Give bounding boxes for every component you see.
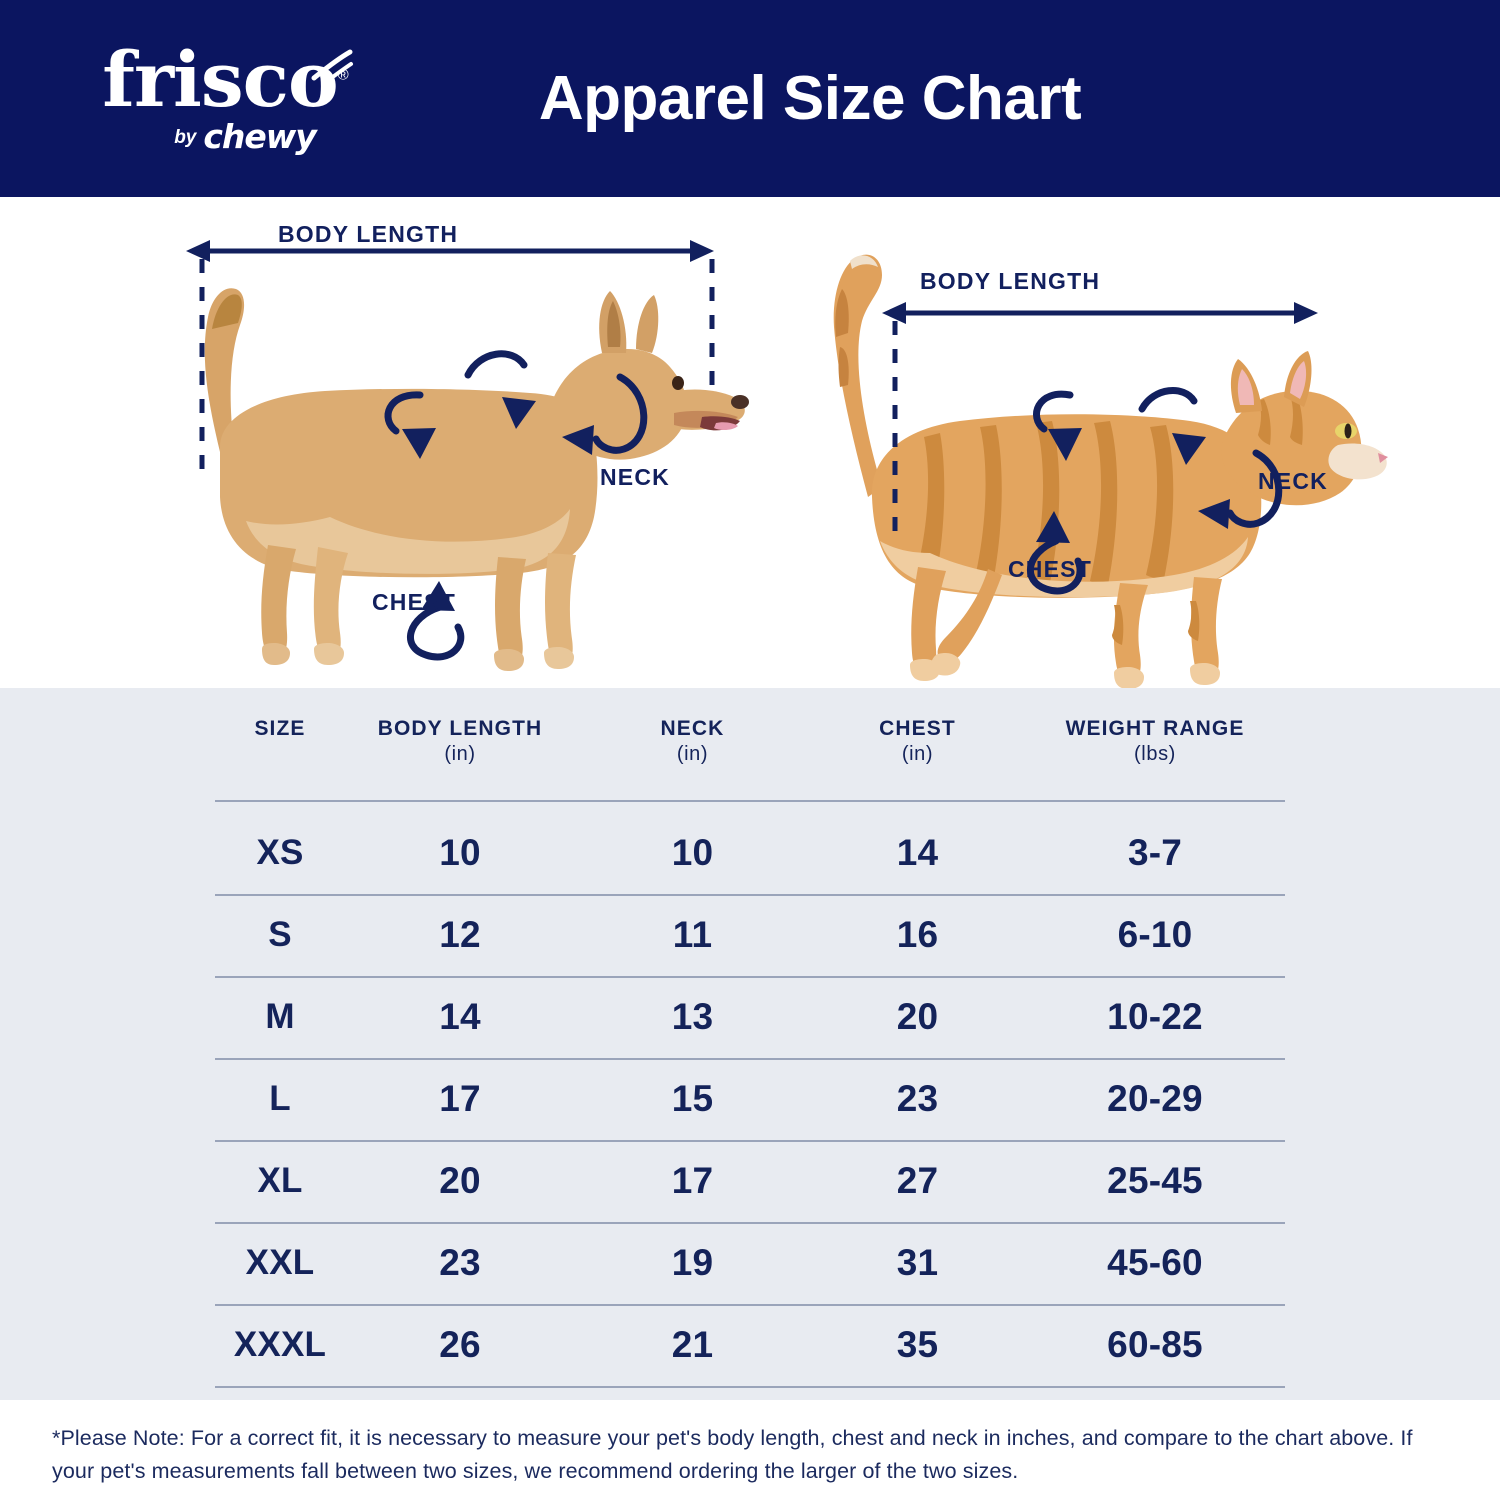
table-row: XXXL 26 21 35 60-85 bbox=[215, 1304, 1285, 1386]
cell-size: XS bbox=[215, 833, 345, 873]
table-row: L 17 15 23 20-29 bbox=[215, 1058, 1285, 1140]
table-divider bbox=[215, 1386, 1285, 1388]
cell-body-length: 12 bbox=[345, 914, 575, 956]
column-header-size-label: SIZE bbox=[254, 717, 305, 740]
cat-body-length-label: BODY LENGTH bbox=[920, 268, 1100, 295]
cell-weight-range: 60-85 bbox=[1025, 1324, 1285, 1366]
table-header-row: SIZE BODY LENGTH (in) NECK (in) CHEST (i… bbox=[215, 702, 1285, 797]
cell-neck: 15 bbox=[575, 1078, 810, 1120]
cell-neck: 21 bbox=[575, 1324, 810, 1366]
cell-neck: 11 bbox=[575, 914, 810, 956]
cell-body-length: 17 bbox=[345, 1078, 575, 1120]
cell-weight-range: 3-7 bbox=[1025, 832, 1285, 874]
cell-chest: 31 bbox=[810, 1242, 1025, 1284]
cell-neck: 17 bbox=[575, 1160, 810, 1202]
column-header-neck-label: NECK bbox=[661, 717, 725, 740]
cell-weight-range: 25-45 bbox=[1025, 1160, 1285, 1202]
dog-illustration bbox=[150, 197, 770, 688]
column-header-size: SIZE bbox=[215, 702, 345, 742]
cat-neck-label: NECK bbox=[1258, 468, 1328, 495]
column-header-neck: NECK (in) bbox=[575, 702, 810, 766]
column-header-chest-label: CHEST bbox=[879, 717, 956, 740]
cell-neck: 10 bbox=[575, 832, 810, 874]
column-header-weight-range-label: WEIGHT RANGE bbox=[1066, 717, 1245, 740]
column-header-neck-unit: (in) bbox=[575, 742, 810, 766]
dog-measurement-figure: BODY LENGTH NECK CHEST bbox=[150, 197, 770, 688]
column-header-chest-unit: (in) bbox=[810, 742, 1025, 766]
cell-weight-range: 6-10 bbox=[1025, 914, 1285, 956]
column-header-weight-range: WEIGHT RANGE (lbs) bbox=[1025, 702, 1285, 766]
cell-size: XXXL bbox=[215, 1325, 345, 1365]
cell-neck: 19 bbox=[575, 1242, 810, 1284]
cell-size: M bbox=[215, 997, 345, 1037]
cell-body-length: 20 bbox=[345, 1160, 575, 1202]
cell-chest: 20 bbox=[810, 996, 1025, 1038]
table-row: XS 10 10 14 3-7 bbox=[215, 812, 1285, 894]
footnote-section: *Please Note: For a correct fit, it is n… bbox=[0, 1400, 1500, 1500]
cell-weight-range: 45-60 bbox=[1025, 1242, 1285, 1284]
size-table: SIZE BODY LENGTH (in) NECK (in) CHEST (i… bbox=[0, 688, 1500, 1400]
cell-body-length: 26 bbox=[345, 1324, 575, 1366]
footnote-text: *Please Note: For a correct fit, it is n… bbox=[52, 1422, 1448, 1489]
cell-chest: 35 bbox=[810, 1324, 1025, 1366]
cell-chest: 23 bbox=[810, 1078, 1025, 1120]
cell-size: XL bbox=[215, 1161, 345, 1201]
dog-body-length-label: BODY LENGTH bbox=[278, 221, 458, 248]
cell-chest: 14 bbox=[810, 832, 1025, 874]
cat-chest-label: CHEST bbox=[1008, 556, 1092, 583]
cat-measurement-figure: BODY LENGTH NECK CHEST bbox=[790, 197, 1410, 688]
page-title: Apparel Size Chart bbox=[0, 0, 1500, 197]
dog-neck-arrow-top bbox=[468, 354, 524, 375]
dog-neck-label: NECK bbox=[600, 464, 670, 491]
cell-chest: 27 bbox=[810, 1160, 1025, 1202]
cell-weight-range: 20-29 bbox=[1025, 1078, 1285, 1120]
cell-chest: 16 bbox=[810, 914, 1025, 956]
cell-body-length: 14 bbox=[345, 996, 575, 1038]
column-header-chest: CHEST (in) bbox=[810, 702, 1025, 766]
page-header: frisco® by chewy Apparel Size Chart bbox=[0, 0, 1500, 197]
cell-size: S bbox=[215, 915, 345, 955]
table-row: S 12 11 16 6-10 bbox=[215, 894, 1285, 976]
cell-size: L bbox=[215, 1079, 345, 1119]
cell-body-length: 10 bbox=[345, 832, 575, 874]
cell-size: XXL bbox=[215, 1243, 345, 1283]
table-row: XXL 23 19 31 45-60 bbox=[215, 1222, 1285, 1304]
table-row: XL 20 17 27 25-45 bbox=[215, 1140, 1285, 1222]
dog-chest-label: CHEST bbox=[372, 589, 456, 616]
measurement-illustrations: BODY LENGTH NECK CHEST bbox=[0, 197, 1500, 688]
column-header-weight-range-unit: (lbs) bbox=[1025, 742, 1285, 766]
cell-neck: 13 bbox=[575, 996, 810, 1038]
table-row: M 14 13 20 10-22 bbox=[215, 976, 1285, 1058]
cell-body-length: 23 bbox=[345, 1242, 575, 1284]
table-divider bbox=[215, 800, 1285, 802]
column-header-body-length-label: BODY LENGTH bbox=[378, 717, 543, 740]
cat-neck-arrow-top bbox=[1142, 391, 1194, 409]
cell-weight-range: 10-22 bbox=[1025, 996, 1285, 1038]
column-header-body-length-unit: (in) bbox=[345, 742, 575, 766]
size-chart-page: frisco® by chewy Apparel Size Chart bbox=[0, 0, 1500, 1500]
column-header-body-length: BODY LENGTH (in) bbox=[345, 702, 575, 766]
